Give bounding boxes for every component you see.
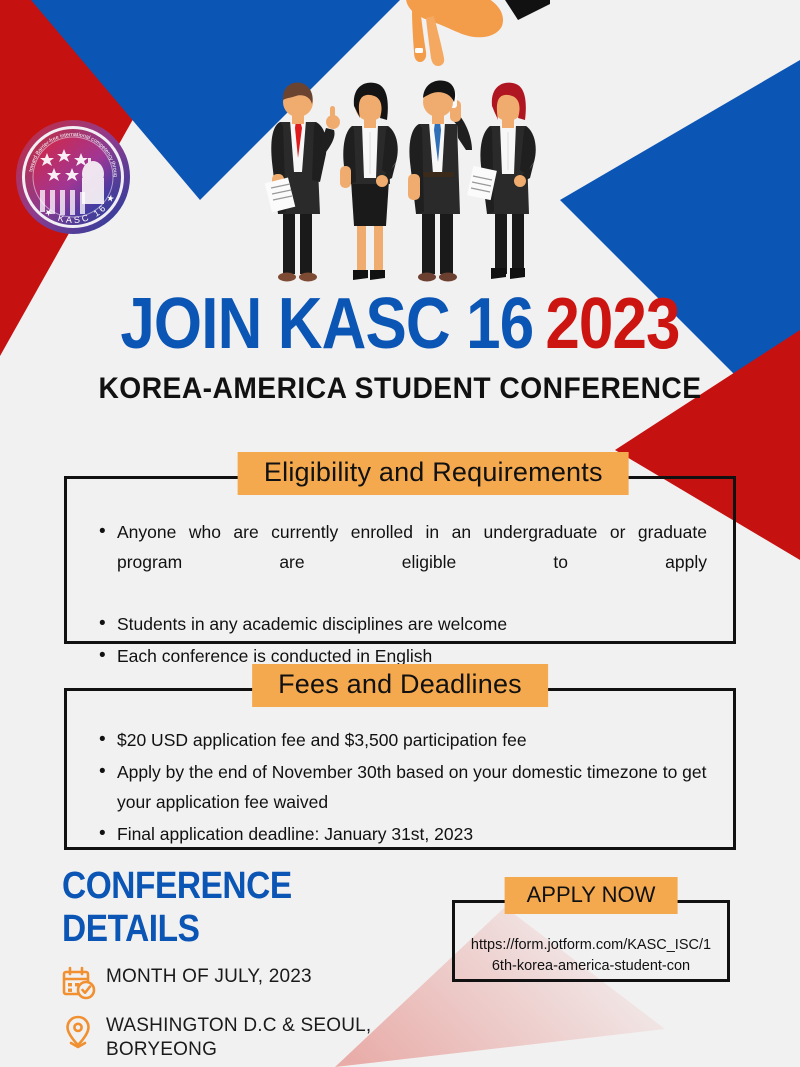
title-join-kasc: JOIN KASC 16 xyxy=(120,284,533,364)
location-pin-icon xyxy=(62,1015,96,1049)
detail-row-location: WASHINGTON D.C & SEOUL, BORYEONG xyxy=(62,1014,462,1063)
list-item: Final application deadline: January 31st… xyxy=(97,819,711,849)
title-year: 2023 xyxy=(545,284,679,364)
fees-list: $20 USD application fee and $3,500 parti… xyxy=(67,691,733,849)
eligibility-header: Eligibility and Requirements xyxy=(238,452,629,495)
details-title: CONFERENCE DETAILS xyxy=(62,865,414,951)
list-item: Apply by the end of November 30th based … xyxy=(97,757,711,817)
detail-date: MONTH OF JULY, 2023 xyxy=(106,965,312,989)
person-2-woman xyxy=(340,83,398,280)
business-people-illustration xyxy=(252,62,552,292)
kasc-logo: toward Barrier-free international compet… xyxy=(14,118,132,236)
conference-details: CONFERENCE DETAILS MONTH OF JULY, 2023 xyxy=(62,865,462,1063)
person-4-woman-red-hair xyxy=(467,83,536,279)
list-item: Anyone who are currently enrolled in an … xyxy=(97,517,711,607)
detail-row-date: MONTH OF JULY, 2023 xyxy=(62,965,462,1000)
fees-box: Fees and Deadlines $20 USD application f… xyxy=(64,688,736,850)
apply-now-header[interactable]: APPLY NOW xyxy=(505,877,678,914)
person-1-man-pointing xyxy=(265,83,340,282)
subtitle: KOREA-AMERICA STUDENT CONFERENCE xyxy=(24,372,776,406)
apply-now-box[interactable]: APPLY NOW https://form.jotform.com/KASC_… xyxy=(452,900,730,982)
poster-canvas: toward Barrier-free international compet… xyxy=(0,0,800,1067)
fees-header: Fees and Deadlines xyxy=(252,664,548,707)
list-item: Students in any academic disciplines are… xyxy=(97,609,711,639)
pointing-hand-icon xyxy=(400,0,550,66)
list-item: $20 USD application fee and $3,500 parti… xyxy=(97,725,711,755)
detail-location: WASHINGTON D.C & SEOUL, BORYEONG xyxy=(106,1014,462,1063)
main-title: JOIN KASC 162023 xyxy=(56,288,744,360)
eligibility-box: Eligibility and Requirements Anyone who … xyxy=(64,476,736,644)
eligibility-list: Anyone who are currently enrolled in an … xyxy=(67,479,733,671)
headline-block: JOIN KASC 162023 KOREA-AMERICA STUDENT C… xyxy=(0,288,800,406)
apply-url-link[interactable]: https://form.jotform.com/KASC_ISC/16th-k… xyxy=(455,903,727,978)
person-3-man-on-phone xyxy=(408,81,472,282)
calendar-check-icon xyxy=(62,966,96,1000)
